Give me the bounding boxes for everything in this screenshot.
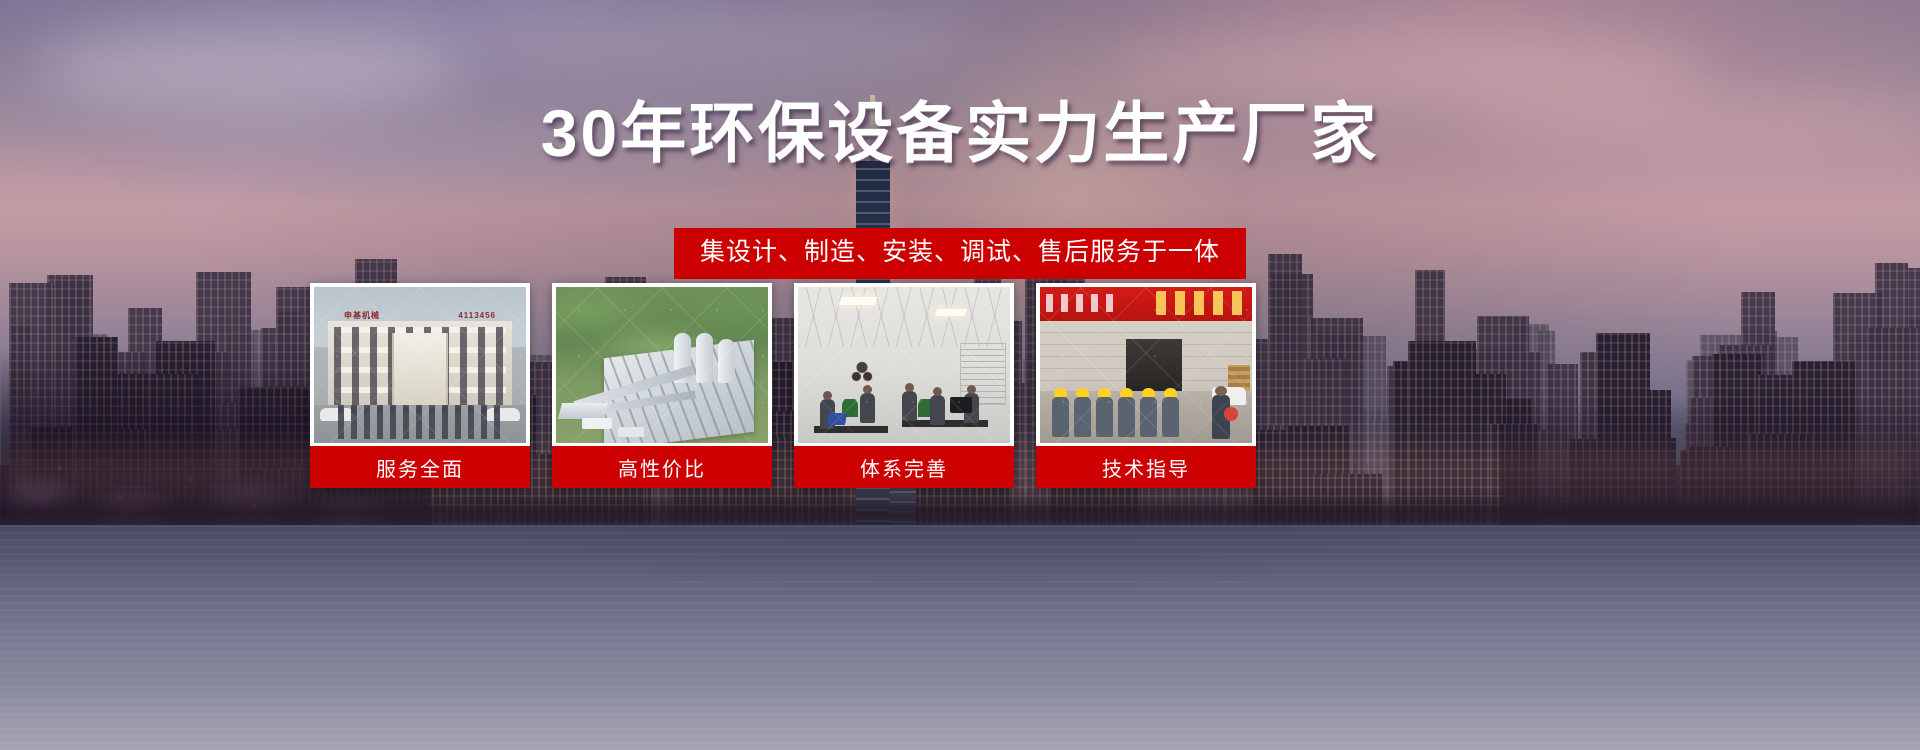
card-caption: 体系完善 <box>794 446 1014 488</box>
banner-headline: 30年环保设备实力生产厂家 <box>0 100 1920 166</box>
feature-card[interactable]: 技术指导 <box>1036 283 1256 488</box>
card-caption: 技术指导 <box>1036 446 1256 488</box>
card-caption: 高性价比 <box>552 446 772 488</box>
card-photo <box>556 287 768 443</box>
hero-banner: 30年环保设备实力生产厂家 集设计、制造、安装、调试、售后服务于一体 申基机械4… <box>0 0 1920 750</box>
feature-card[interactable]: 申基机械4113456 服务全面 <box>310 283 530 488</box>
card-caption: 服务全面 <box>310 446 530 488</box>
feature-card[interactable]: 体系完善 <box>794 283 1014 488</box>
card-photo <box>798 287 1010 443</box>
banner-content: 30年环保设备实力生产厂家 集设计、制造、安装、调试、售后服务于一体 申基机械4… <box>0 0 1920 750</box>
feature-card-list: 申基机械4113456 服务全面 <box>310 283 1256 488</box>
feature-card[interactable]: 高性价比 <box>552 283 772 488</box>
banner-subtitle-bar: 集设计、制造、安装、调试、售后服务于一体 <box>674 228 1246 279</box>
card-photo: 申基机械4113456 <box>314 287 526 443</box>
banner-subtitle-text: 集设计、制造、安装、调试、售后服务于一体 <box>700 237 1220 268</box>
card-photo <box>1040 287 1252 443</box>
